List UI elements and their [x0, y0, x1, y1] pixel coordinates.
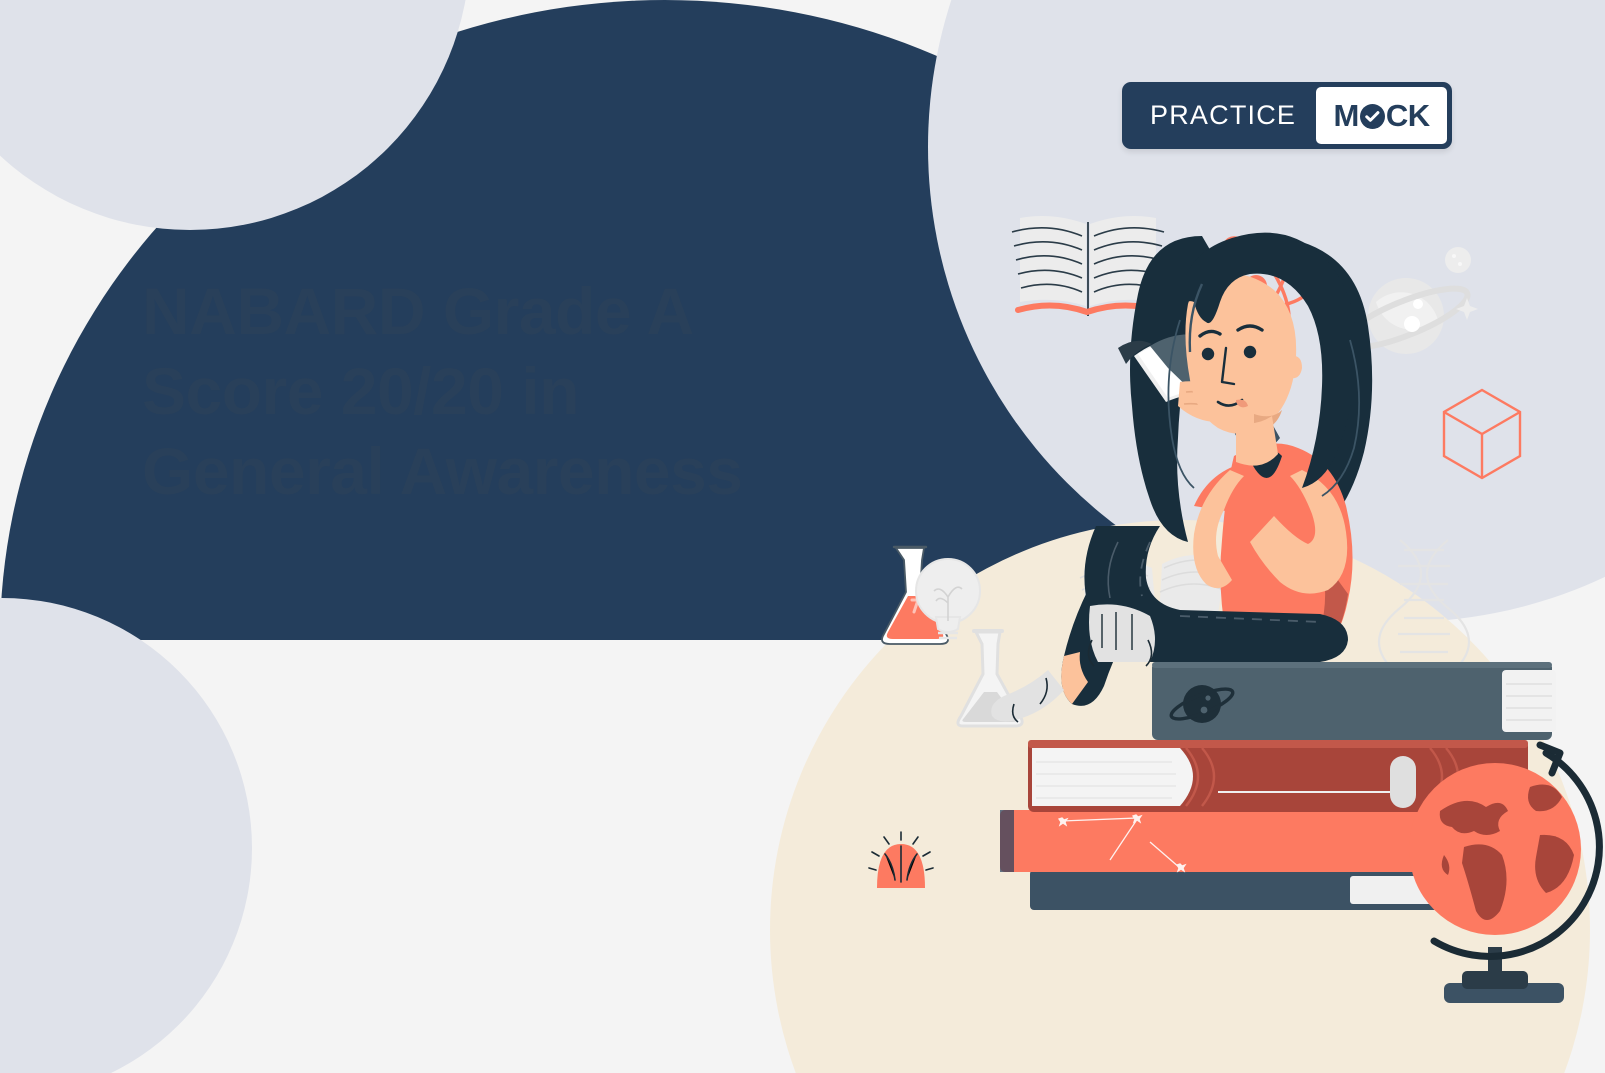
check-circle-icon [1360, 104, 1385, 129]
logo-mock-ck: CK [1386, 98, 1430, 134]
eye-left [1202, 348, 1214, 360]
sock-upper [1088, 604, 1155, 666]
eye-right [1244, 346, 1256, 358]
logo-word-mock: M CK [1316, 87, 1447, 144]
logo-mock-m: M [1334, 98, 1359, 134]
page-title-line-1: NABARD Grade A [142, 272, 902, 352]
cactus-icon [869, 832, 933, 888]
logo-word-practice: PRACTICE [1122, 100, 1316, 131]
dna-helix-icon [1379, 540, 1469, 676]
banner-root: PRACTICE M CK NABARD Grade A Score 20/20… [0, 0, 1605, 1073]
page-title-line-2: Score 20/20 in [142, 352, 902, 432]
page-title-line-3: General Awareness [142, 432, 902, 512]
book-slate [1152, 662, 1556, 740]
student-reading-illustration [850, 170, 1605, 1073]
page-title: NABARD Grade A Score 20/20 in General Aw… [142, 272, 902, 512]
neck [1236, 416, 1278, 466]
practice-mock-logo[interactable]: PRACTICE M CK [1122, 82, 1452, 149]
cube-icon [1444, 390, 1520, 478]
ear [1290, 356, 1302, 379]
decor-circle-bottom-left [0, 598, 252, 1073]
